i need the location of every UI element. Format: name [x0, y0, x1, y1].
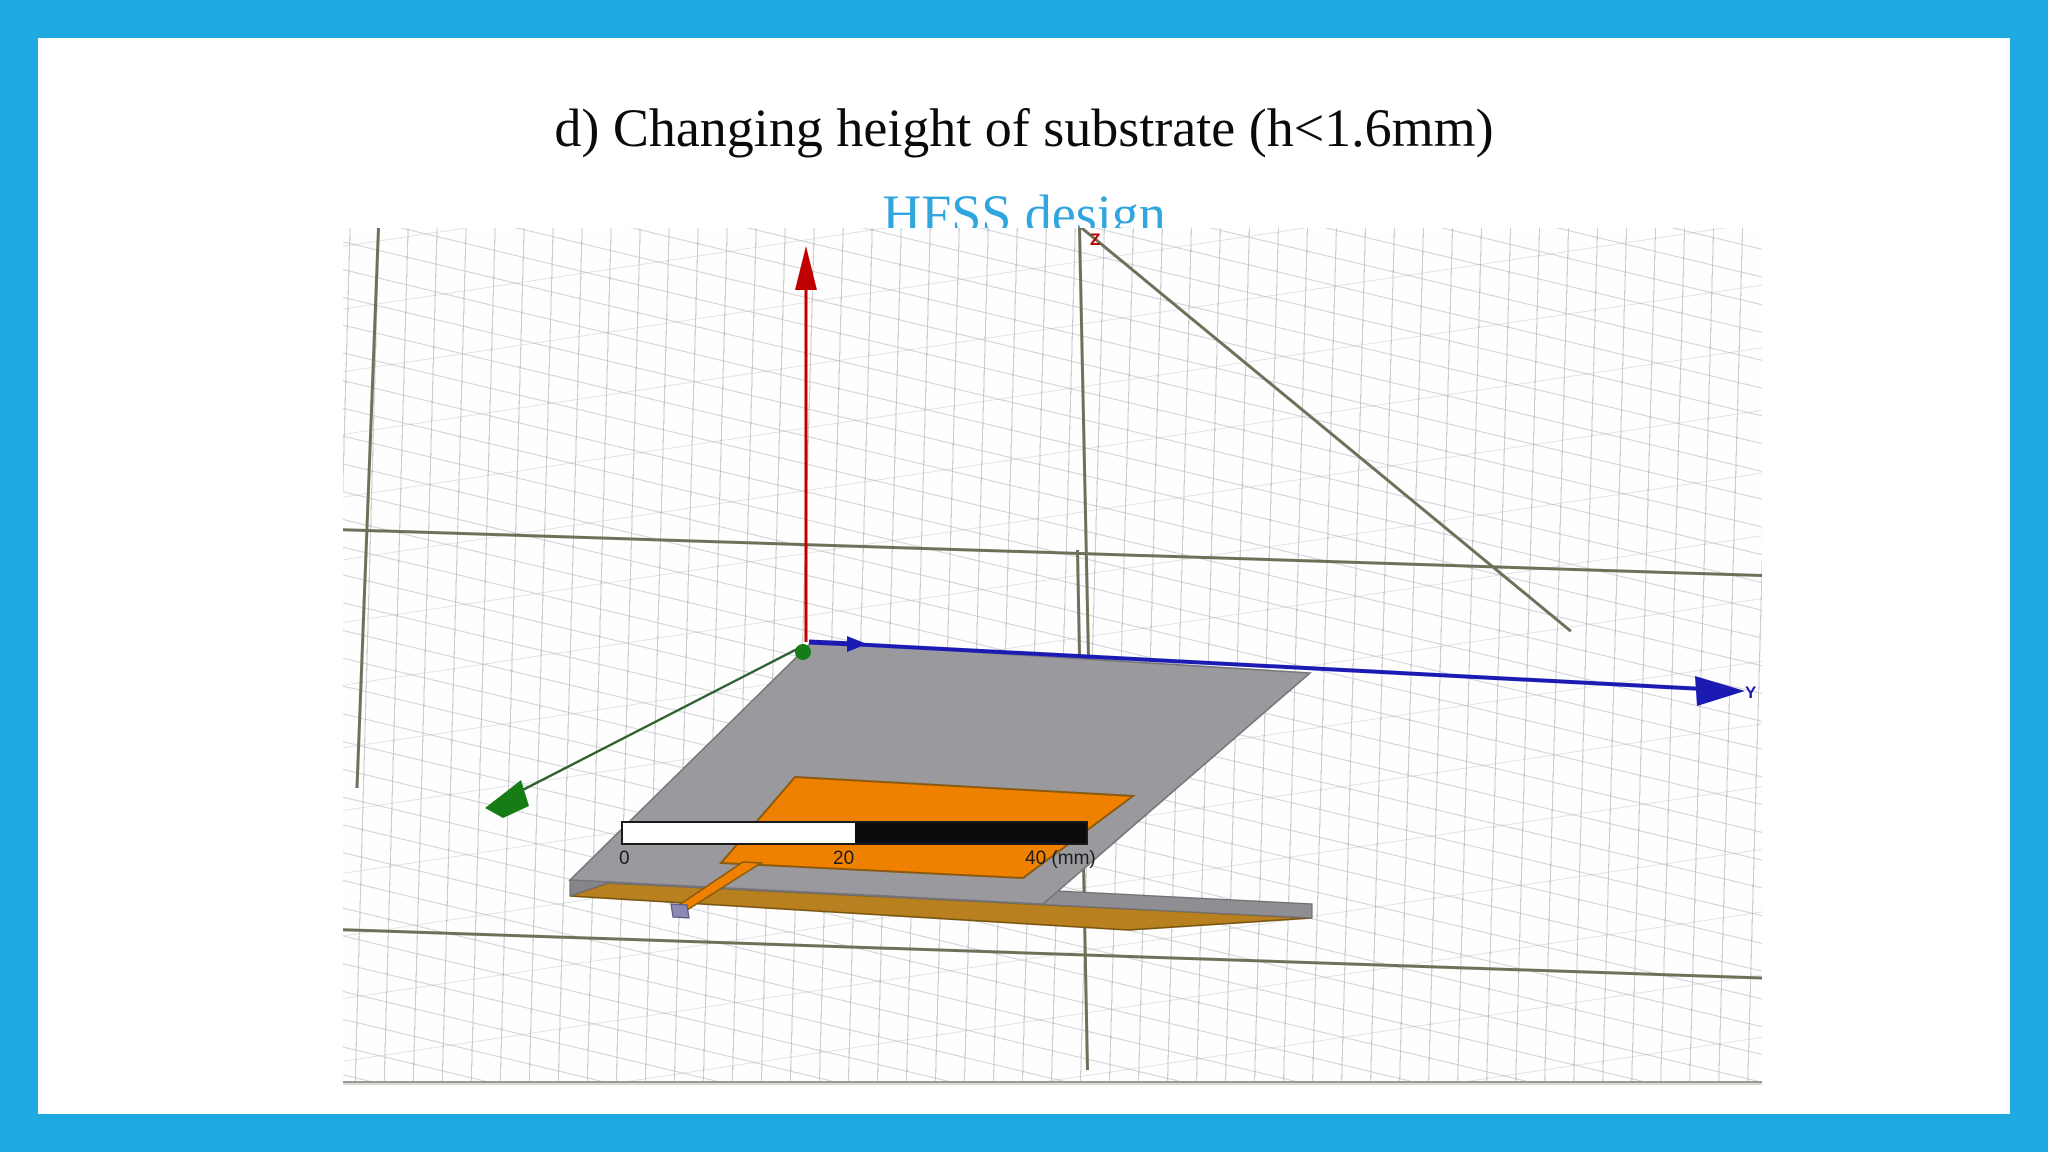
scale-bar	[621, 821, 1088, 845]
y-axis-arrow-icon	[1695, 676, 1745, 706]
page-title: d) Changing height of substrate (h<1.6mm…	[38, 100, 2010, 157]
x-axis-arrow-icon	[485, 780, 529, 818]
scale-bar-filled-half	[855, 823, 1087, 843]
slide-canvas: d) Changing height of substrate (h<1.6mm…	[38, 38, 2010, 1114]
y-axis-label: Y	[1745, 683, 1756, 703]
viewport-bottom-rule	[343, 1081, 1762, 1085]
y-axis-origin-stub	[809, 642, 853, 644]
antenna-geometry[interactable]	[343, 228, 1762, 1085]
z-axis-label: Z	[1090, 230, 1100, 250]
scale-tick-20: 20	[833, 848, 854, 870]
x-axis-origin-marker-icon	[795, 644, 811, 660]
scale-bar-ticks: 0 20 40 (mm)	[615, 848, 1115, 874]
scale-tick-0: 0	[619, 848, 630, 870]
z-axis-arrow-icon	[795, 246, 817, 290]
hfss-3d-model-view[interactable]: Z Y 0 20 40 (mm)	[343, 228, 1762, 1085]
lumped-port[interactable]	[671, 904, 689, 918]
scale-tick-40: 40 (mm)	[1025, 848, 1096, 870]
